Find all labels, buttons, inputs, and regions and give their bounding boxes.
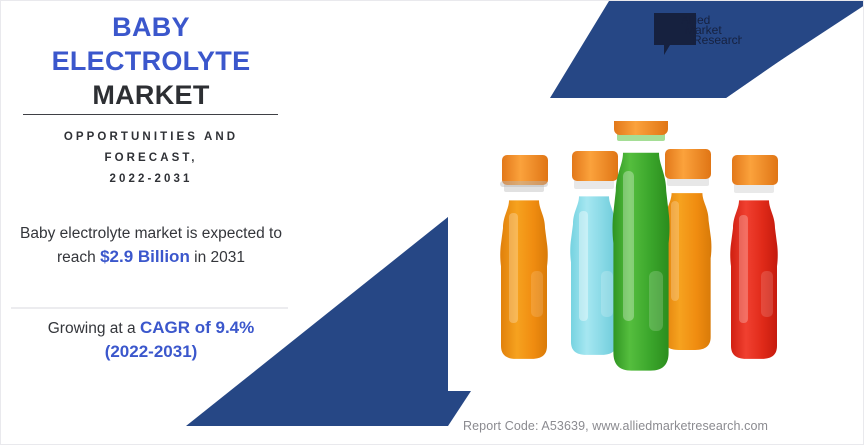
stat-two-value: CAGR of 9.4% xyxy=(140,318,254,337)
title-line-3: MARKET xyxy=(1,78,301,112)
stat-one-suffix: in 2031 xyxy=(190,249,245,266)
stat-one-value: $2.9 Billion xyxy=(100,247,190,266)
logo-bar-2 xyxy=(658,26,680,33)
subtitle-line-1: OPPORTUNITIES AND xyxy=(11,127,291,148)
allied-market-research-logo: Allied Market Research xyxy=(652,11,742,59)
bottle-orange-back xyxy=(663,149,712,350)
logo-bar-1 xyxy=(658,17,670,24)
subtitle-line-3: 2022-2031 xyxy=(11,169,291,190)
title-line-2: ELECTROLYTE xyxy=(1,44,301,78)
logo-text-research: Research xyxy=(693,33,742,47)
infographic-canvas: Allied Market Research xyxy=(0,0,864,445)
stat-cagr: Growing at a CAGR of 9.4% (2022-2031) xyxy=(7,316,295,364)
divider-secondary xyxy=(11,307,288,309)
subtitle-line-2: FORECAST, xyxy=(11,148,291,169)
bottle-green-center xyxy=(613,121,670,371)
stat-two-prefix: Growing at a xyxy=(48,320,140,337)
bottle-lightblue xyxy=(570,151,618,355)
page-title: BABY ELECTROLYTE MARKET xyxy=(1,10,301,112)
stat-two-period: (2022-2031) xyxy=(105,342,198,361)
subtitle-block: OPPORTUNITIES AND FORECAST, 2022-2031 xyxy=(11,127,291,190)
bottle-red xyxy=(730,155,778,359)
stat-market-value: Baby electrolyte market is expected to r… xyxy=(7,222,295,269)
sports-drink-bottles-image xyxy=(471,121,864,386)
bottle-orange-left xyxy=(500,155,548,359)
left-text-column: BABY ELECTROLYTE MARKET OPPORTUNITIES AN… xyxy=(1,1,301,445)
title-line-1: BABY xyxy=(1,10,301,44)
divider-primary xyxy=(23,114,278,115)
footer-report-code: Report Code: A53639, www.alliedmarketres… xyxy=(463,419,768,433)
